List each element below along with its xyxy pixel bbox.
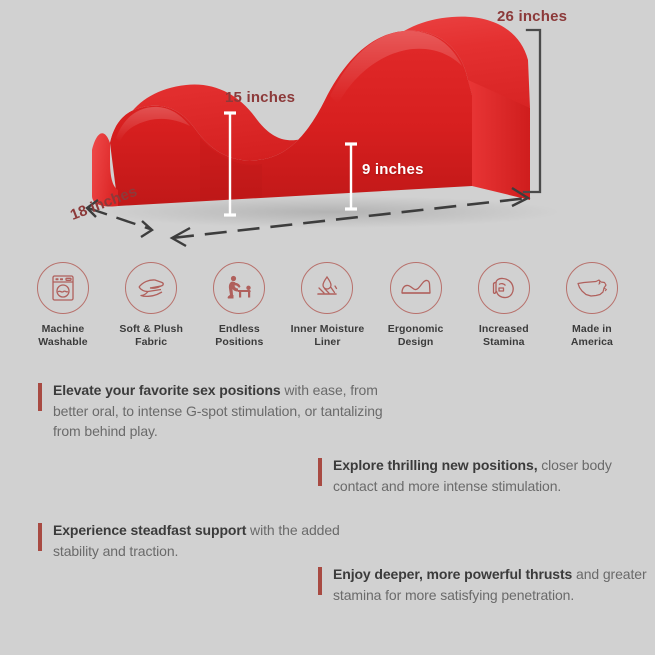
dimension-label-height-dip: 9 inches [362,161,424,178]
couple-position-icon [213,262,265,314]
feature-item-ergonomic-design: Ergonomic Design [375,262,457,370]
benefit-headline: Elevate your favorite sex positions [53,382,281,398]
benefit-headline: Explore thrilling new positions, [333,457,537,473]
feature-item-endless-positions: Endless Positions [198,262,280,370]
dimension-label-height-mid: 15 inches [225,89,295,106]
benefit-item: Elevate your favorite sex positions with… [38,380,412,442]
benefit-accent-bar [318,458,322,486]
ergonomic-curve-icon [390,262,442,314]
moisture-liner-icon [301,262,353,314]
product-illustration [0,0,655,258]
feature-item-moisture-liner: Inner Moisture Liner [286,262,368,370]
benefit-headline: Experience steadfast support [53,522,246,538]
benefit-headline: Enjoy deeper, more powerful thrusts [333,566,572,582]
feature-label: Ergonomic Design [388,323,444,349]
benefits-section: Elevate your favorite sex positions with… [0,372,655,655]
feature-item-made-in-america: Made in America [551,262,633,370]
product-hero-section: 26 inches 15 inches 9 inches 18 inches [0,0,655,258]
plush-fabric-icon [125,262,177,314]
feature-label: Soft & Plush Fabric [119,323,183,349]
benefit-text: Experience steadfast support with the ad… [53,520,368,561]
benefit-item: Enjoy deeper, more powerful thrusts and … [318,564,648,605]
feature-item-plush-fabric: Soft & Plush Fabric [110,262,192,370]
benefit-text: Elevate your favorite sex positions with… [53,380,412,442]
feature-label: Inner Moisture Liner [291,323,365,349]
benefit-accent-bar [38,523,42,551]
benefit-item: Explore thrilling new positions, closer … [318,455,648,496]
feature-item-machine-washable: Machine Washable [22,262,104,370]
feature-label: Machine Washable [38,323,87,349]
feature-label: Made in America [571,323,613,349]
feature-label: Increased Stamina [479,323,529,349]
feature-icon-row: Machine Washable Soft & Plush Fabric [0,262,655,370]
washing-machine-icon [37,262,89,314]
benefit-item: Experience steadfast support with the ad… [38,520,368,561]
benefit-text: Explore thrilling new positions, closer … [333,455,648,496]
feature-label: Endless Positions [215,323,263,349]
benefit-accent-bar [318,567,322,595]
feature-item-increased-stamina: Increased Stamina [463,262,545,370]
benefit-accent-bar [38,383,42,411]
benefit-text: Enjoy deeper, more powerful thrusts and … [333,564,648,605]
usa-map-icon [566,262,618,314]
flexed-bicep-icon [478,262,530,314]
dimension-label-height-back: 26 inches [497,8,567,25]
